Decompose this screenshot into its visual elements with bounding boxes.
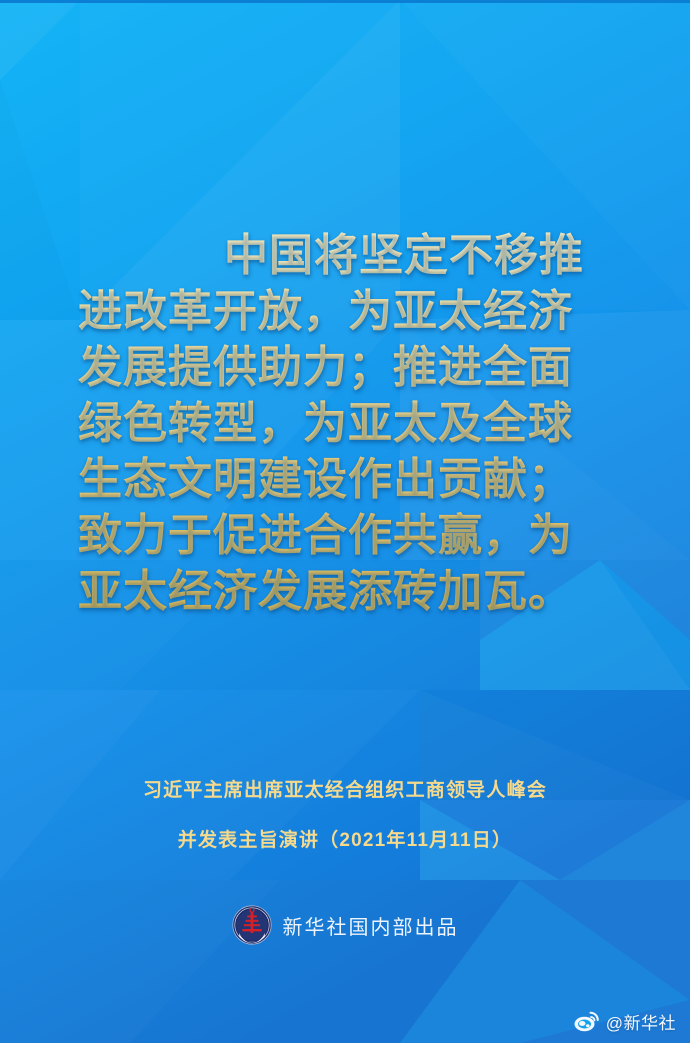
xinhua-emblem-icon: [232, 905, 272, 945]
top-accent-strip: [0, 0, 690, 3]
weibo-handle: @新华社: [606, 1009, 676, 1034]
agency-label: 新华社国内部出品: [283, 911, 459, 940]
agency-credit: 新华社国内部出品: [0, 905, 690, 945]
weibo-icon: [574, 1011, 600, 1032]
caption-block: 习近平主席出席亚太经合组织工商领导人峰会 并发表主旨演讲（2021年11月11日…: [0, 778, 690, 854]
poster-canvas: 中国将坚定不移推进改革开放，为亚太经济发展提供助力；推进全面绿色转型，为亚太及全…: [0, 0, 690, 1043]
caption-line-date: 并发表主旨演讲（2021年11月11日）: [0, 828, 690, 854]
weibo-watermark: @新华社: [574, 1009, 676, 1034]
caption-line-event: 习近平主席出席亚太经合组织工商领导人峰会: [0, 778, 690, 804]
headline-quote: 中国将坚定不移推进改革开放，为亚太经济发展提供助力；推进全面绿色转型，为亚太及全…: [78, 228, 612, 620]
